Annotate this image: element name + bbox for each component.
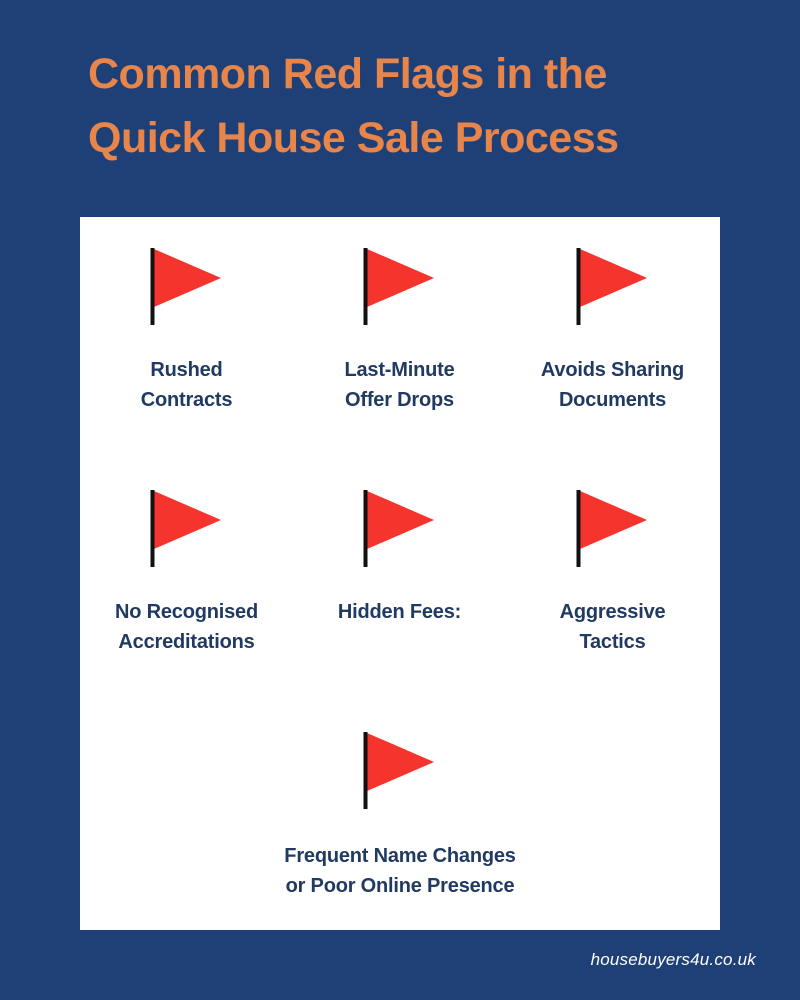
flag-item-label: No Recognised Accreditations	[115, 597, 258, 657]
red-flag-icon	[575, 245, 651, 327]
title-line-2: Quick House Sale Process	[88, 106, 738, 170]
flag-item-label: Last-Minute Offer Drops	[344, 355, 454, 415]
page-title: Common Red Flags in the Quick House Sale…	[88, 42, 738, 170]
flag-item-frequent-name-changes: Frequent Name Changes or Poor Online Pre…	[185, 729, 615, 901]
flag-row-2: No Recognised Accreditations Hidden Fees…	[80, 487, 720, 657]
flag-item-aggressive-tactics: Aggressive Tactics	[506, 487, 719, 657]
content-card: Rushed Contracts Last-Minute Offer Drops	[80, 217, 720, 930]
red-flag-icon	[362, 245, 438, 327]
flag-item-label: Frequent Name Changes or Poor Online Pre…	[284, 841, 515, 901]
red-flag-icon	[362, 487, 438, 569]
red-flag-icon	[575, 487, 651, 569]
flag-item-label: Hidden Fees:	[338, 597, 461, 627]
infographic-poster: Common Red Flags in the Quick House Sale…	[0, 0, 800, 1000]
flag-item-avoids-sharing-documents: Avoids Sharing Documents	[506, 245, 719, 415]
flag-row-3: Frequent Name Changes or Poor Online Pre…	[80, 729, 720, 901]
website-footer: housebuyers4u.co.uk	[591, 950, 756, 970]
flag-row-1: Rushed Contracts Last-Minute Offer Drops	[80, 245, 720, 415]
flag-item-label: Rushed Contracts	[141, 355, 233, 415]
flag-item-no-recognised-accreditations: No Recognised Accreditations	[80, 487, 293, 657]
flag-item-last-minute-offer-drops: Last-Minute Offer Drops	[293, 245, 506, 415]
flag-item-label: Aggressive Tactics	[560, 597, 666, 657]
flag-item-rushed-contracts: Rushed Contracts	[80, 245, 293, 415]
flag-item-hidden-fees: Hidden Fees:	[293, 487, 506, 657]
red-flag-icon	[149, 487, 225, 569]
flag-item-label: Avoids Sharing Documents	[541, 355, 684, 415]
red-flag-icon	[149, 245, 225, 327]
title-line-1: Common Red Flags in the	[88, 42, 738, 106]
red-flag-icon	[362, 729, 438, 811]
